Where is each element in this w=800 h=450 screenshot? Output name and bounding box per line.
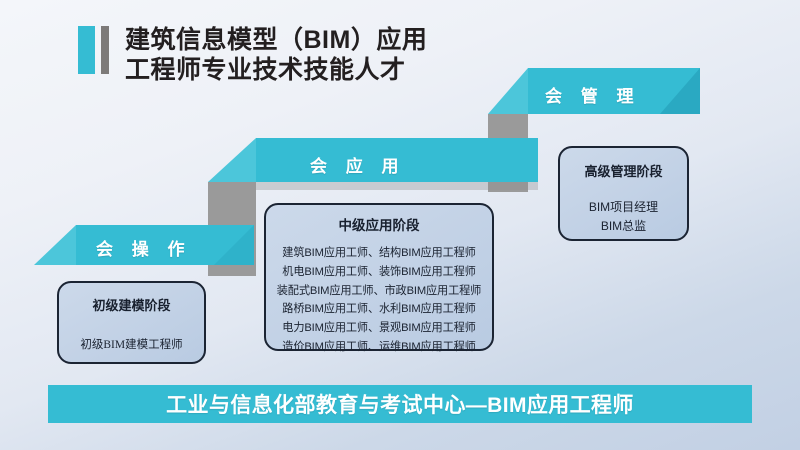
step-label-apply: 会 应 用 [310, 152, 405, 177]
title-accent-bar-gray [101, 26, 109, 74]
card-middle-line-6: 造价BIM应用工师、运维BIM应用工程师 [266, 338, 492, 357]
step-label-manage: 会 管 理 [545, 82, 640, 107]
card-basic-stage: 初级建模阶段 初级BIM建模工程师 [57, 281, 206, 364]
card-middle-line-5: 电力BIM应用工师、景观BIM应用工程师 [266, 319, 492, 338]
title-line-1: 建筑信息模型（BIM）应用 [125, 26, 427, 56]
card-advanced-line-1: BIM项目经理 [560, 198, 687, 217]
card-middle-line-4: 路桥BIM应用工师、水利BIM应用工程师 [266, 300, 492, 319]
card-advanced-line-2: BIM总监 [560, 217, 687, 236]
card-basic-line-1: 初级BIM建模工程师 [59, 336, 204, 352]
card-advanced-title: 高级管理阶段 [560, 161, 687, 180]
card-middle-line-1: 建筑BIM应用工师、结构BIM应用工程师 [266, 244, 492, 263]
card-advanced-body: BIM项目经理 BIM总监 [560, 198, 687, 235]
page-title: 建筑信息模型（BIM）应用 工程师专业技术技能人才 [78, 26, 427, 85]
footer-banner: 工业与信息化部教育与考试中心—BIM应用工程师 [48, 385, 752, 423]
title-line-2: 工程师专业技术技能人才 [125, 56, 427, 86]
card-middle-title: 中级应用阶段 [266, 214, 492, 234]
card-middle-stage: 中级应用阶段 建筑BIM应用工师、结构BIM应用工程师 机电BIM应用工师、装饰… [264, 203, 494, 351]
step-label-operate: 会 操 作 [96, 235, 191, 260]
title-text-group: 建筑信息模型（BIM）应用 工程师专业技术技能人才 [125, 26, 427, 85]
card-middle-body: 建筑BIM应用工师、结构BIM应用工程师 机电BIM应用工师、装饰BIM应用工程… [266, 244, 492, 357]
title-accent-bar-teal [78, 26, 95, 74]
card-middle-line-3: 装配式BIM应用工师、市政BIM应用工程师 [266, 282, 492, 301]
slide-canvas: 建筑信息模型（BIM）应用 工程师专业技术技能人才 会 管 理 会 应 用 [0, 0, 800, 450]
footer-banner-text: 工业与信息化部教育与考试中心—BIM应用工程师 [166, 389, 634, 419]
card-basic-title: 初级建模阶段 [59, 295, 204, 314]
card-advanced-stage: 高级管理阶段 BIM项目经理 BIM总监 [558, 146, 689, 241]
card-middle-line-2: 机电BIM应用工师、装饰BIM应用工程师 [266, 263, 492, 282]
card-basic-body: 初级BIM建模工程师 [59, 336, 204, 352]
